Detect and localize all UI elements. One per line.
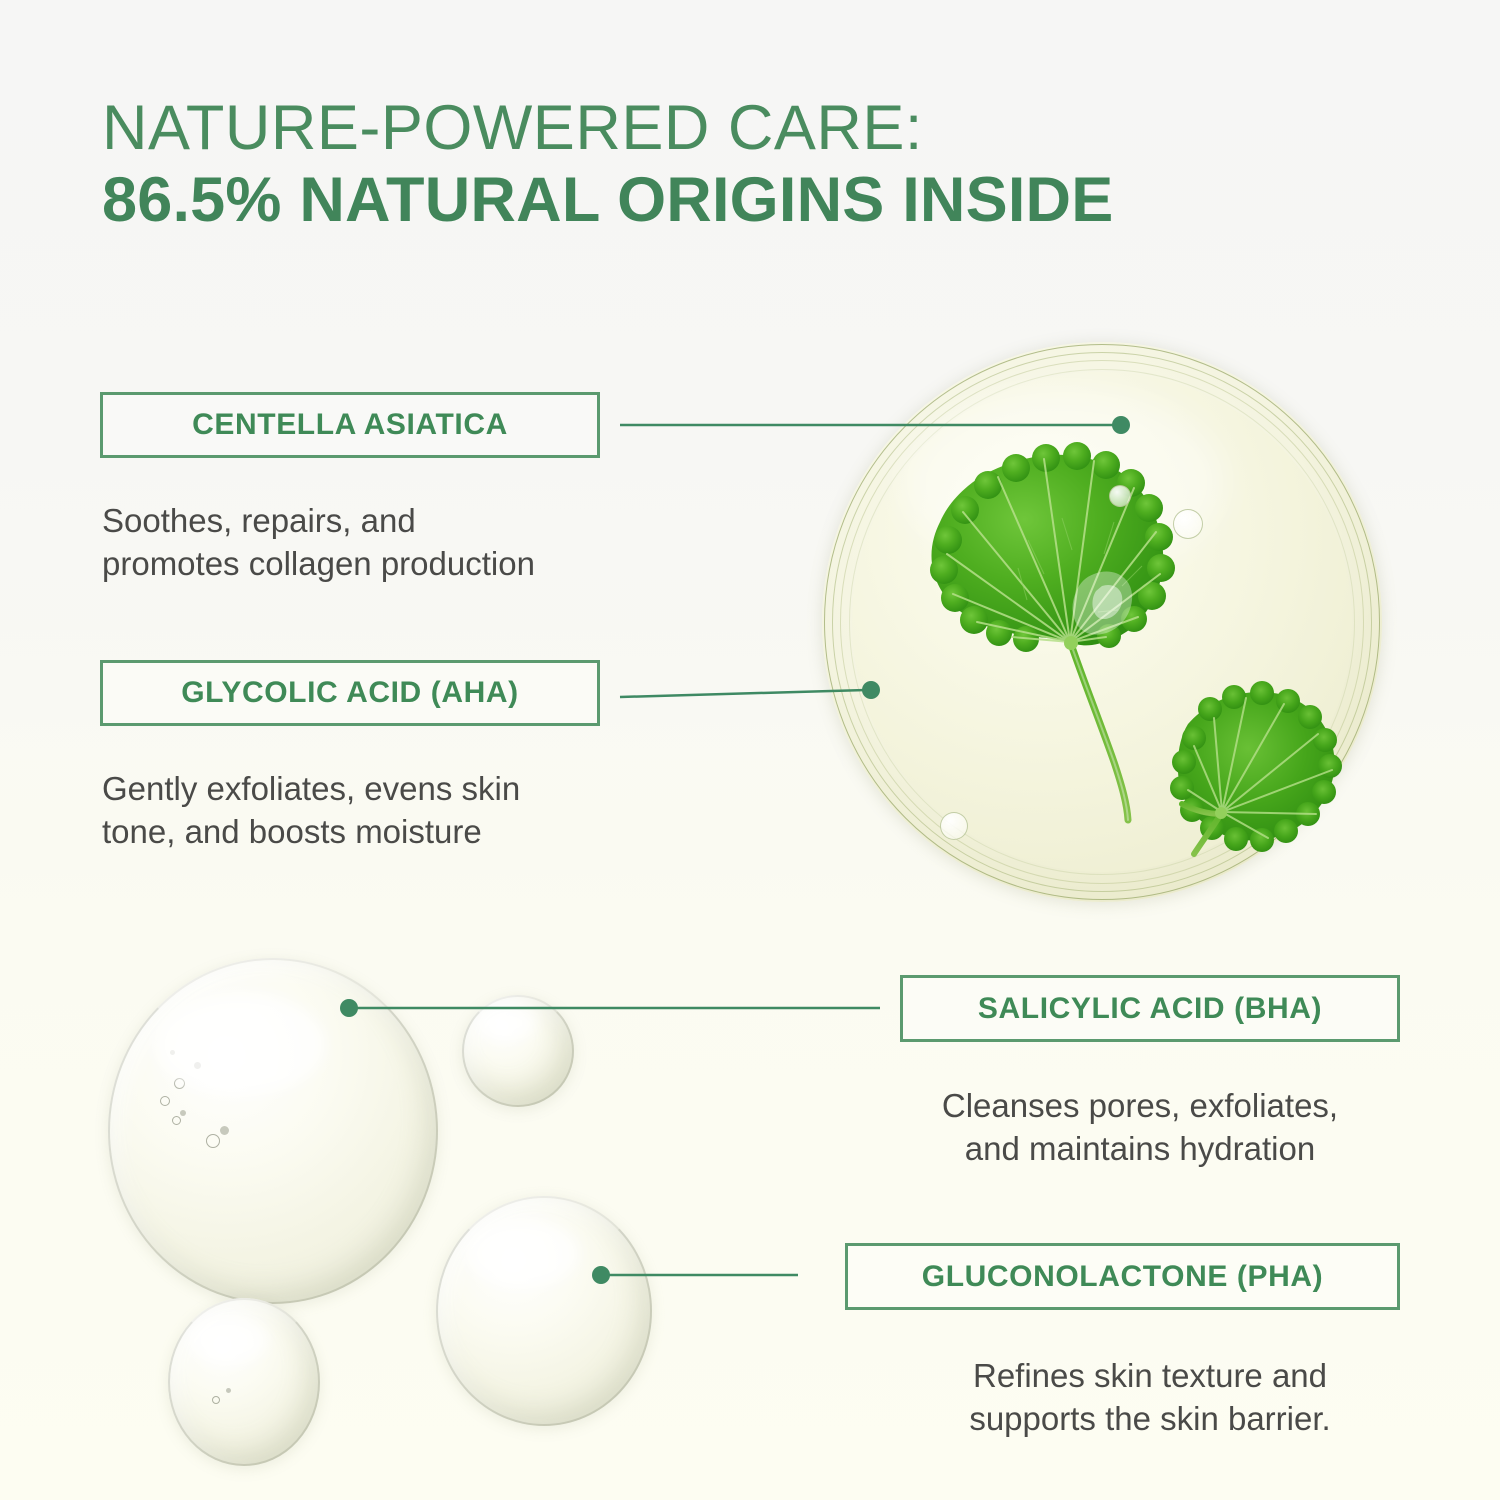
- droplet-bubble: [172, 1116, 181, 1125]
- liquid-bubble: [940, 812, 968, 840]
- droplet-bubble: [206, 1134, 220, 1148]
- ingredient-label-text: SALICYLIC ACID (BHA): [978, 992, 1322, 1026]
- page-title: NATURE-POWERED CARE: 86.5% NATURAL ORIGI…: [102, 95, 1352, 239]
- droplet-rim: [436, 1196, 652, 1426]
- title-line-2: 86.5% NATURAL ORIGINS INSIDE: [102, 162, 1352, 239]
- ingredient-label-glycolic-acid[interactable]: GLYCOLIC ACID (AHA): [100, 660, 600, 726]
- ingredient-description-gluconolactone: Refines skin texture and supports the sk…: [880, 1355, 1420, 1441]
- liquid-bubble: [1173, 509, 1203, 539]
- gel-droplet-bottom: [168, 1298, 320, 1466]
- description-line: Refines skin texture and: [880, 1355, 1420, 1398]
- description-line: and maintains hydration: [860, 1128, 1420, 1171]
- droplet-bubble: [212, 1396, 220, 1404]
- ingredient-description-centella-asiatica: Soothes, repairs, and promotes collagen …: [102, 500, 742, 586]
- description-line: Cleanses pores, exfoliates,: [860, 1085, 1420, 1128]
- ingredient-description-salicylic-acid: Cleanses pores, exfoliates, and maintain…: [860, 1085, 1420, 1171]
- gel-droplet-small: [462, 995, 574, 1107]
- ingredient-label-gluconolactone[interactable]: GLUCONOLACTONE (PHA): [845, 1243, 1400, 1310]
- ingredient-label-text: CENTELLA ASIATICA: [192, 408, 508, 442]
- description-line: Gently exfoliates, evens skin: [102, 768, 742, 811]
- droplet-bubble: [194, 1062, 201, 1069]
- ingredient-description-glycolic-acid: Gently exfoliates, evens skin tone, and …: [102, 768, 742, 854]
- droplet-bubble: [180, 1110, 186, 1116]
- ingredient-label-centella-asiatica[interactable]: CENTELLA ASIATICA: [100, 392, 600, 458]
- title-line-1: NATURE-POWERED CARE:: [102, 95, 1352, 162]
- ingredient-label-text: GLYCOLIC ACID (AHA): [181, 676, 519, 710]
- centella-leaves-illustration: [822, 342, 1382, 902]
- droplet-bubble: [174, 1078, 185, 1089]
- droplet-bubble: [226, 1388, 231, 1393]
- leaf-large: [930, 442, 1175, 820]
- description-line: Soothes, repairs, and: [102, 500, 742, 543]
- droplet-bubble: [160, 1096, 170, 1106]
- ingredient-label-salicylic-acid[interactable]: SALICYLIC ACID (BHA): [900, 975, 1400, 1042]
- leaf-small: [1170, 681, 1342, 854]
- liquid-bubble: [1109, 485, 1131, 507]
- droplet-rim: [168, 1298, 320, 1466]
- description-line: promotes collagen production: [102, 543, 742, 586]
- droplet-bubble: [220, 1126, 229, 1135]
- description-line: tone, and boosts moisture: [102, 811, 742, 854]
- ingredient-label-text: GLUCONOLACTONE (PHA): [922, 1260, 1323, 1294]
- description-line: supports the skin barrier.: [880, 1398, 1420, 1441]
- droplet-bubble: [170, 1050, 175, 1055]
- gel-droplet-medium: [436, 1196, 652, 1426]
- petri-dish-image: [822, 342, 1382, 902]
- droplet-rim: [462, 995, 574, 1107]
- gel-droplet-large: [108, 958, 438, 1304]
- droplet-rim: [108, 958, 438, 1304]
